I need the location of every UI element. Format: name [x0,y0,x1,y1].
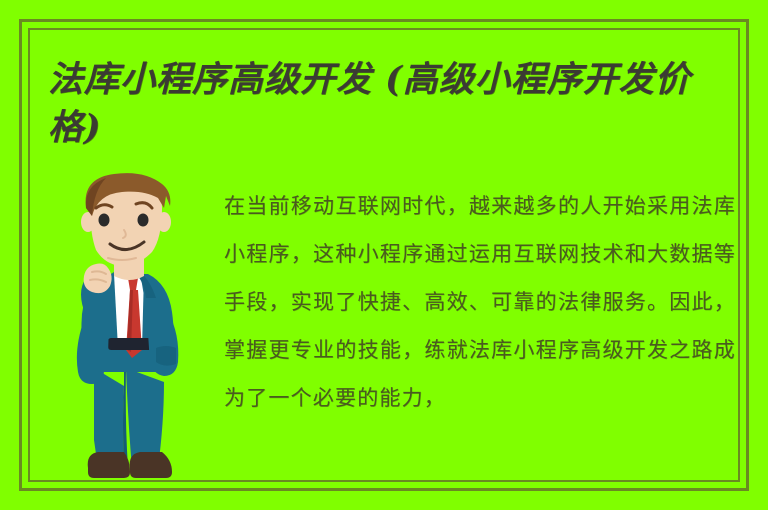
article-body-text: 在当前移动互联网时代，越来越多的人开始采用法库小程序，这种小程序通过运用互联网技… [224,182,736,422]
poster-canvas: 法库小程序高级开发 (高级小程序开发价格) 在当前移动互联网时代，越来越多的人开… [0,0,768,510]
thinking-businessman-illustration [52,172,220,494]
page-title: 法库小程序高级开发 (高级小程序开发价格) [48,56,738,152]
